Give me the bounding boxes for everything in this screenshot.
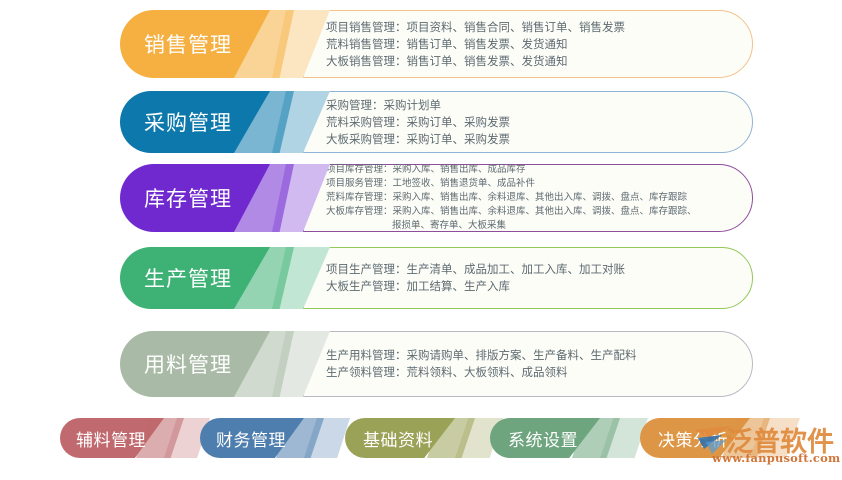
module-label-text: 采购管理 [144,91,232,153]
bottom-tab-label: 系统设置 [508,418,578,458]
detail-line: 大板采购管理：采购订单、采购发票 [326,131,738,148]
diagram-canvas: 销售管理 项目销售管理：项目资料、销售合同、销售订单、销售发票 荒料销售管理：销… [0,0,842,480]
module-detail-panel-inventory: 项目库存管理：采购入库、销售出库、成品库存 项目服务管理：工地签收、销售退货单、… [303,164,753,232]
watermark: 泛普软件 www.fanpusoft.com [690,418,842,476]
module-label-text: 生产管理 [144,247,232,309]
detail-line: 大板生产管理：加工结算、生产入库 [326,278,738,295]
detail-line: 项目销售管理：项目资料、销售合同、销售订单、销售发票 [326,19,738,36]
detail-line: 生产领料管理：荒料领料、大板领料、成品领料 [326,364,738,381]
detail-line: 项目服务管理：工地签收、销售退货单、成品补件 [326,177,738,191]
bottom-tab-label: 财务管理 [216,418,286,458]
module-detail-panel-purchase: 采购管理：采购计划单 荒料采购管理：采购订单、采购发票 大板采购管理：采购订单、… [303,91,753,153]
module-row-inventory: 库存管理 项目库存管理：采购入库、销售出库、成品库存 项目服务管理：工地签收、销… [0,164,842,232]
detail-line: 大板销售管理：销售订单、销售发票、发货通知 [326,53,738,70]
module-detail-panel-sales: 项目销售管理：项目资料、销售合同、销售订单、销售发票 荒料销售管理：销售订单、销… [303,10,753,78]
bottom-tab-label: 辅料管理 [76,418,146,458]
module-row-material: 用料管理 生产用料管理：采购请购单、排版方案、生产备料、生产配料 生产领料管理：… [0,331,842,397]
detail-line: 采购管理：采购计划单 [326,97,738,114]
module-row-purchase: 采购管理 采购管理：采购计划单 荒料采购管理：采购订单、采购发票 大板采购管理：… [0,91,842,153]
module-label-text: 用料管理 [144,331,232,397]
module-row-production: 生产管理 项目生产管理：生产清单、成品加工、加工入库、加工对账 大板生产管理：加… [0,247,842,309]
module-detail-panel-material: 生产用料管理：采购请购单、排版方案、生产备料、生产配料 生产领料管理：荒料领料、… [303,331,753,397]
detail-line: 项目库存管理：采购入库、销售出库、成品库存 [326,163,738,177]
module-label-text: 库存管理 [144,164,232,232]
detail-line: 生产用料管理：采购请购单、排版方案、生产备料、生产配料 [326,347,738,364]
detail-line: 荒料销售管理：销售订单、销售发票、发货通知 [326,36,738,53]
bottom-tab-label: 基础资料 [363,418,433,458]
watermark-url: www.fanpusoft.com [712,451,840,465]
module-label-text: 销售管理 [144,10,232,78]
bottom-tab-finance[interactable]: 财务管理 [200,418,360,458]
detail-line: 荒料库存管理：采购入库、销售出库、余料退库、其他出入库、调拨、盘点、库存跟踪 [326,191,738,205]
detail-line: 项目生产管理：生产清单、成品加工、加工入库、加工对账 [326,261,738,278]
module-detail-panel-production: 项目生产管理：生产清单、成品加工、加工入库、加工对账 大板生产管理：加工结算、生… [303,247,753,309]
detail-line: 报损单、寄存单、大板采集 [326,219,738,233]
bottom-tab-system[interactable]: 系统设置 [490,418,660,458]
detail-line: 荒料采购管理：采购订单、采购发票 [326,114,738,131]
detail-line: 大板库存管理：采购入库、销售出库、余料退库、其他出入库、调拨、盘点、库存跟踪、 [326,205,738,219]
bottom-tab-auxiliary[interactable]: 辅料管理 [60,418,220,458]
module-row-sales: 销售管理 项目销售管理：项目资料、销售合同、销售订单、销售发票 荒料销售管理：销… [0,10,842,78]
